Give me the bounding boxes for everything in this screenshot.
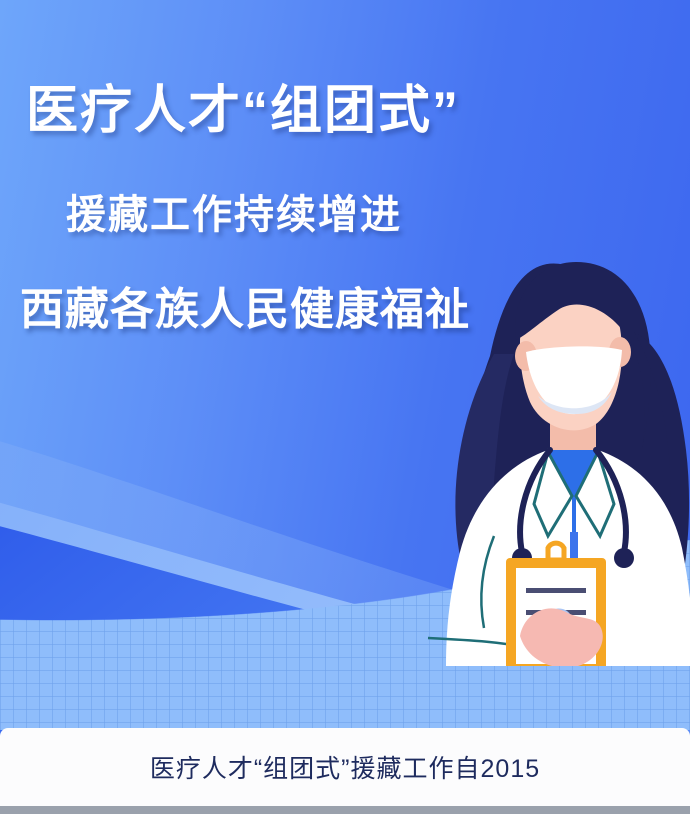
footer-bar — [0, 806, 690, 814]
clipboard-line — [526, 588, 586, 593]
doctor-stethoscope-bell-right — [614, 548, 634, 568]
doctor-illustration — [398, 236, 690, 666]
poster-root: 医疗人才“组团式” 援藏工作持续增进 西藏各族人民健康福祉 医疗人才“组团式”援… — [0, 0, 690, 814]
caption-panel: 医疗人才“组团式”援藏工作自2015 — [0, 728, 690, 806]
caption-text: 医疗人才“组团式”援藏工作自2015 — [150, 749, 540, 785]
